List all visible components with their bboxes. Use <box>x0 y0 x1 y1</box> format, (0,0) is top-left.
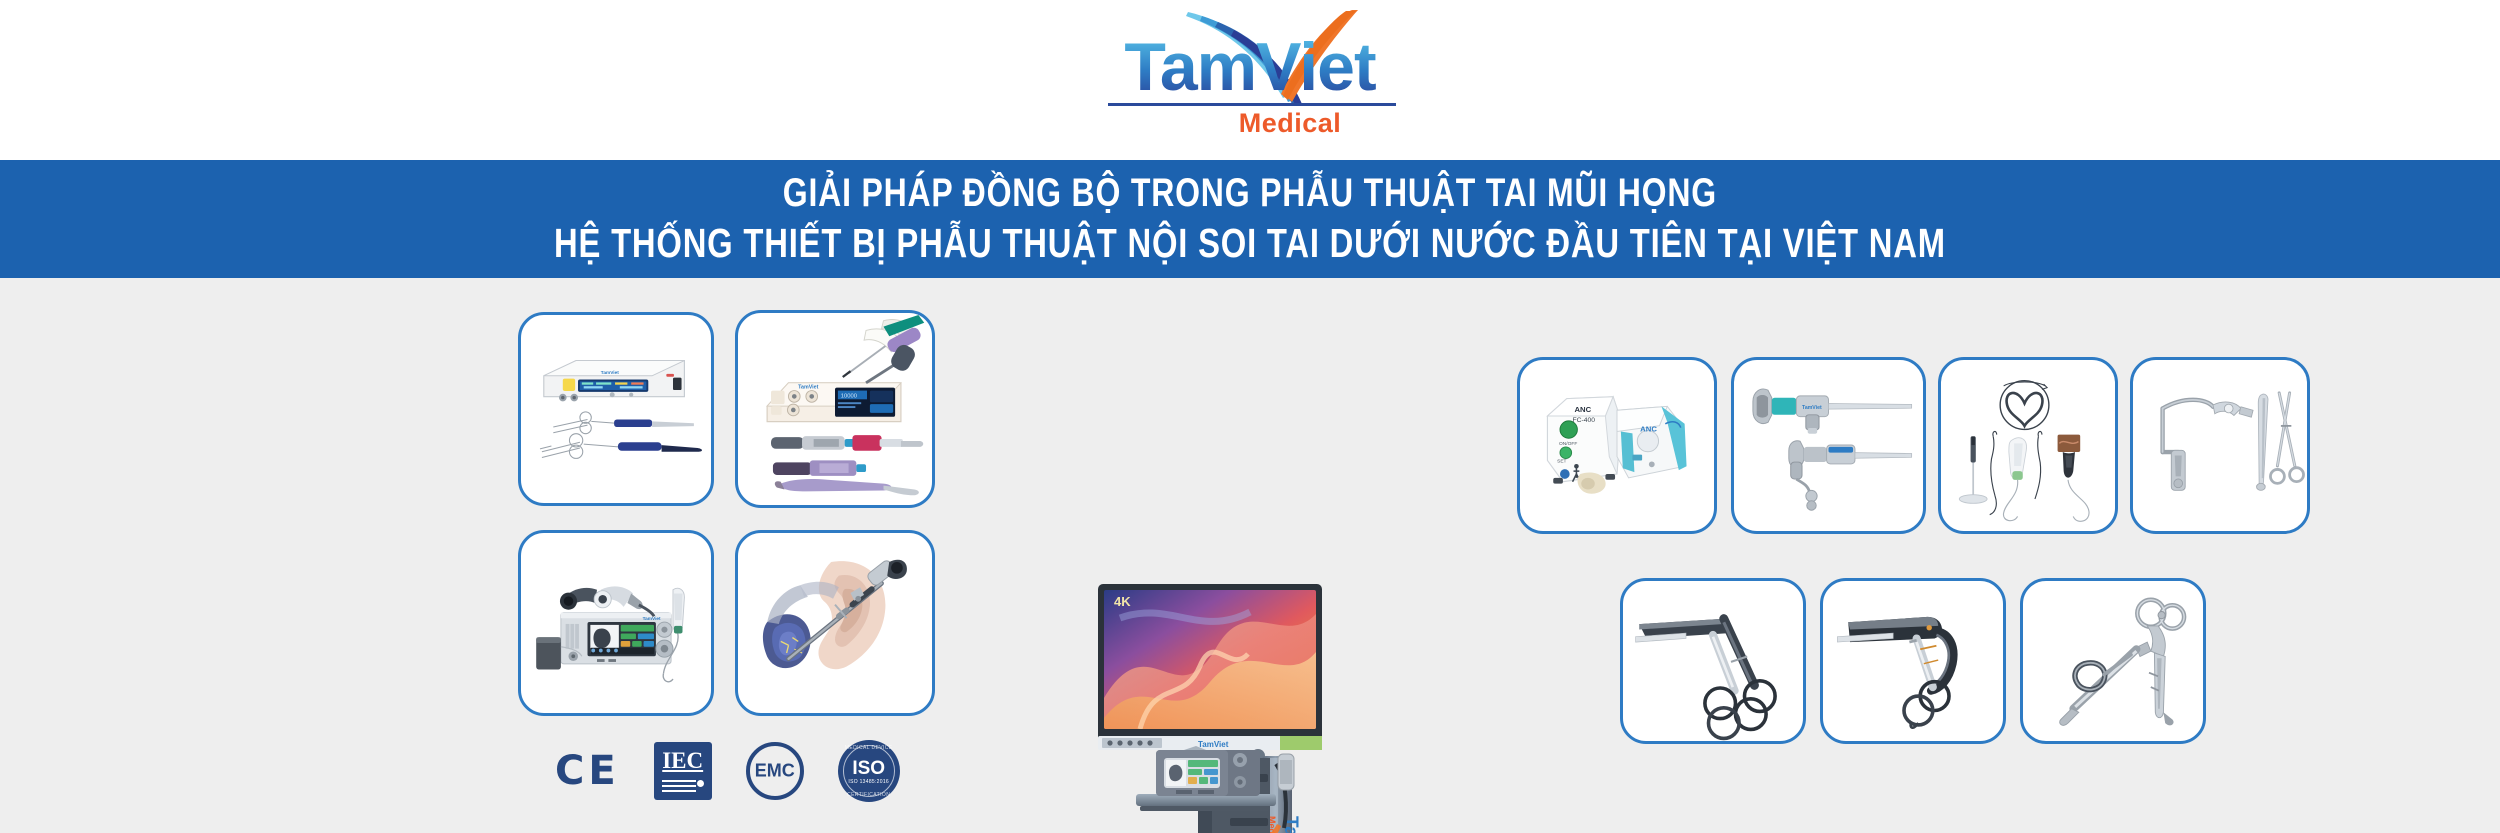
iso-bottom-text: CERTIFICATION <box>838 792 900 798</box>
product-showcase-stage: TamViet 10000 TamViet <box>0 278 2500 833</box>
svg-text:ANC: ANC <box>1640 424 1657 433</box>
shaver-console-with-pedal-icon: TamViet <box>521 533 711 713</box>
emc-mark-icon: EMC <box>746 742 804 800</box>
product-card-drill-shaver-console[interactable]: TamViet <box>518 530 714 716</box>
product-card-through-cutting-forceps[interactable] <box>1620 578 1806 744</box>
product-card-ear-endoscopy-diagram[interactable] <box>735 530 935 716</box>
svg-text:TamViet: TamViet <box>643 616 661 622</box>
plasma-console-with-handpieces-icon: 10000 TamViet <box>738 313 932 505</box>
headline-line-1: GIẢI PHÁP ĐỒNG BỘ TRONG PHẪU THUẬT TAI M… <box>783 169 1717 217</box>
iso-top-text: MEDICAL DEVICE <box>838 745 900 751</box>
svg-text:TamViet: TamViet <box>601 370 619 376</box>
retractor-and-forceps-icon <box>2133 360 2307 531</box>
svg-text:ON/OFF: ON/OFF <box>1559 441 1577 447</box>
iec-label: IEC <box>654 748 712 774</box>
iso-mark-icon: MEDICAL DEVICE ISO ISO 13485:2016 CERTIF… <box>838 740 900 802</box>
cutting-forceps-icon <box>1623 581 1803 741</box>
headline-banner: GIẢI PHÁP ĐỒNG BỘ TRONG PHẪU THUẬT TAI M… <box>0 160 2500 278</box>
product-card-irrigation-pump-fc400[interactable]: ON/OFF SET ANC FC-400 ANC <box>1517 357 1717 534</box>
banner-header: TamViet Medical <box>0 0 2500 160</box>
rigid-endoscope-icon: TamViet <box>1734 360 1923 531</box>
svg-text:TamViet: TamViet <box>1198 740 1229 749</box>
svg-text:ANC: ANC <box>1574 405 1591 414</box>
ear-anatomy-endoscope-icon <box>738 533 932 713</box>
product-card-rigid-endoscopes[interactable]: TamViet <box>1731 357 1926 534</box>
svg-text:TamViet: TamViet <box>798 385 818 391</box>
product-card-surgical-instruments-set[interactable] <box>2130 357 2310 534</box>
svg-text:FC-400: FC-400 <box>1573 417 1596 424</box>
logo-subtitle: Medical <box>1040 108 1460 139</box>
logo-wordmark: TamViet <box>1040 28 1460 104</box>
product-card-backbiting-forceps[interactable] <box>1820 578 2006 744</box>
svg-text:10000: 10000 <box>841 393 857 399</box>
curette-instrument-icon <box>2023 581 2203 741</box>
svg-text:SET: SET <box>1557 458 1566 464</box>
endoscopy-tower: 4K TamViet TamViet Medical <box>1080 578 1410 833</box>
ce-mark-icon: CE <box>555 748 620 794</box>
emc-label: EMC <box>750 761 800 782</box>
iso-number: ISO 13485:2016 <box>838 779 900 785</box>
svg-text:4K: 4K <box>1114 594 1131 609</box>
svg-text:TamViet: TamViet <box>1802 405 1822 411</box>
product-card-electrosurgical-generator[interactable]: TamViet <box>518 312 714 506</box>
product-card-sinus-curette-set[interactable] <box>2020 578 2206 744</box>
headline-line-2: HỆ THỐNG THIẾT BỊ PHẪU THUẬT NỘI SOI TAI… <box>554 217 1946 269</box>
certification-badges: CE IEC EMC MEDICAL DEVICE ISO ISO 13485:… <box>555 740 900 802</box>
svg-text:TamViet: TamViet <box>1124 29 1376 104</box>
product-card-plasma-console[interactable]: 10000 TamViet <box>735 310 935 508</box>
iso-label: ISO <box>852 759 885 778</box>
flexible-endoscope-icon <box>1941 360 2115 531</box>
iec-mark-icon: IEC <box>654 742 712 800</box>
tamviet-logo: TamViet Medical <box>1040 10 1460 150</box>
irrigation-pump-icon: ON/OFF SET ANC FC-400 ANC <box>1520 360 1714 531</box>
backbiting-forceps-icon <box>1823 581 2003 741</box>
logo-underline <box>1108 103 1396 106</box>
generator-with-bipolar-forceps-icon: TamViet <box>521 315 711 503</box>
product-card-flexible-endoscopes[interactable] <box>1938 357 2118 534</box>
